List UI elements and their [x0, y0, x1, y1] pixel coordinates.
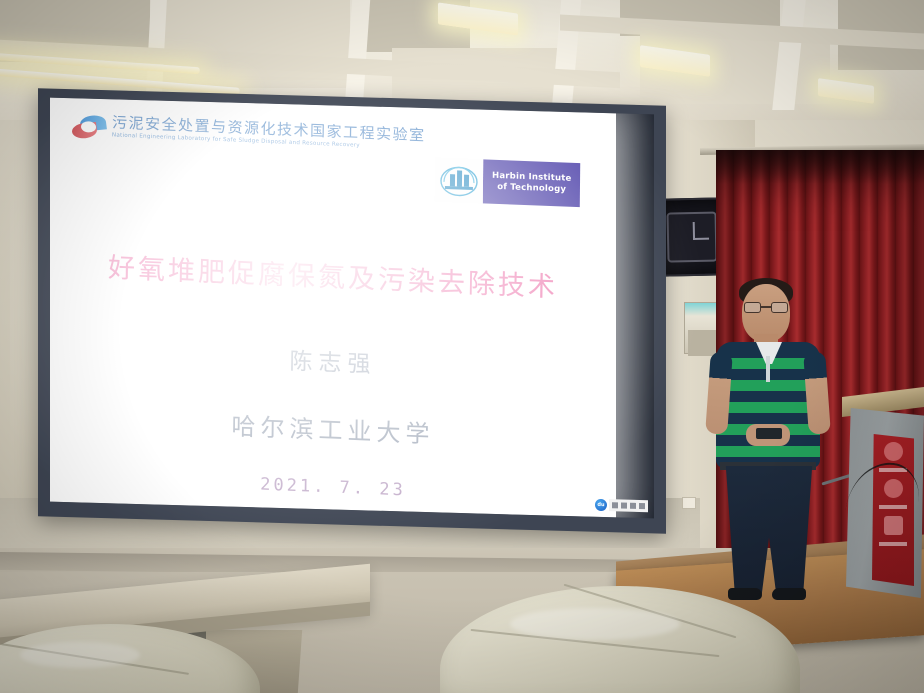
tray-icon-3[interactable] [630, 502, 636, 508]
sponsor-logo-1 [884, 442, 903, 461]
hit-banner: Harbin Institute of Technology [483, 159, 581, 207]
slide-author: 陈志强 [50, 332, 616, 389]
clock-dial [666, 212, 717, 263]
tray-icon-2[interactable] [621, 502, 627, 508]
slide-organization: 哈尔滨工业大学 [50, 399, 616, 457]
curtain-shadow [716, 150, 924, 184]
presenter-left-shoe [728, 588, 762, 600]
presenter-right-arm [803, 351, 831, 434]
hit-line-2: of Technology [497, 181, 566, 194]
slide-title: 好氧堆肥促腐保氮及污染去除技术 [50, 243, 616, 307]
tray-icon-1[interactable] [612, 502, 618, 508]
presenter-right-shoe [772, 588, 806, 600]
swoosh-logo-icon [72, 114, 106, 143]
slide-header: 污泥安全处置与资源化技术国家工程实验室 National Engineering… [50, 98, 616, 206]
wall-socket [682, 497, 696, 509]
slide-date: 2021. 7. 23 [50, 466, 616, 509]
lectern [840, 392, 924, 602]
presentation-slide: 污泥安全处置与资源化技术国家工程实验室 National Engineering… [50, 98, 616, 518]
presenter-clicker [756, 428, 782, 439]
tray-icons[interactable] [609, 499, 648, 512]
screen-inner: 污泥安全处置与资源化技术国家工程实验室 National Engineering… [50, 98, 654, 519]
presenter-trousers [724, 466, 814, 594]
projection-screen: 污泥安全处置与资源化技术国家工程实验室 National Engineering… [38, 88, 666, 534]
lecture-hall-photo: 污泥安全处置与资源化技术国家工程实验室 National Engineering… [0, 0, 924, 693]
lab-logo-text: 污泥安全处置与资源化技术国家工程实验室 National Engineering… [112, 115, 426, 152]
browser-orb-icon[interactable]: du [595, 498, 607, 510]
tray-icon-4[interactable] [639, 503, 645, 509]
hit-emblem-icon [435, 158, 483, 204]
presenter [706, 276, 832, 606]
eyeglasses-icon [744, 302, 788, 313]
hit-logo: Harbin Institute of Technology [435, 158, 581, 208]
shirt-placket [766, 356, 770, 382]
lab-logo: 污泥安全处置与资源化技术国家工程实验室 National Engineering… [72, 114, 426, 157]
taskbar-overlay[interactable]: du [595, 498, 648, 512]
